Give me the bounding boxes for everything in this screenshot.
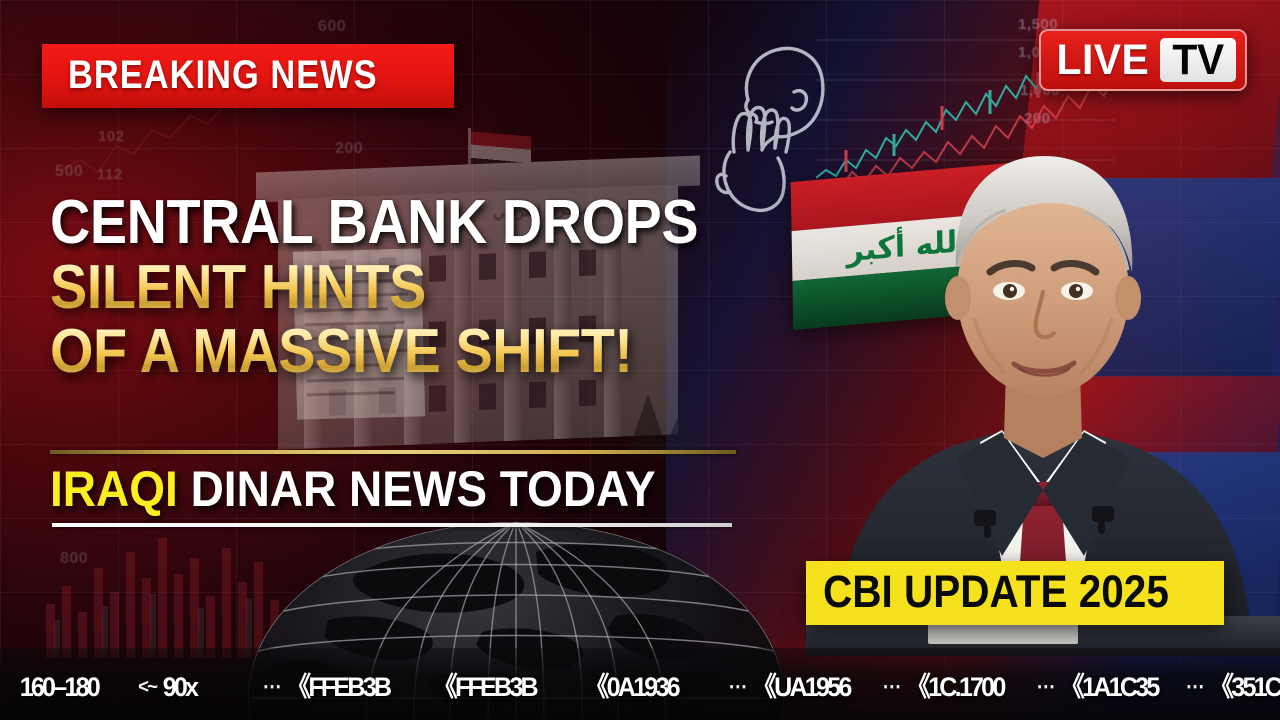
ticker-text-8: 《351C. [1209, 672, 1280, 702]
breaking-news-label: BREAKING NEWS [68, 55, 378, 95]
ticker-item-5: ⋯《UA1956 [729, 672, 850, 702]
ticker-item-6: ⋯《1C.1700 [883, 672, 1004, 702]
headline-line-2: SILENT HINTS [50, 256, 734, 320]
ticker-text-2: 《FFEB3B [286, 672, 389, 702]
ticker-item-3: 《FFEB3B [426, 672, 536, 702]
ticker-item-8: ⋯《351C. [1186, 672, 1280, 702]
subtitle-block: IRAQI DINAR NEWS TODAY [50, 460, 656, 518]
live-tv-badge: LIVE TV [1039, 29, 1247, 91]
ticker-text-4: 《0A1936 [584, 672, 678, 702]
ticker-arrow-8: ⋯ [1186, 672, 1203, 702]
tv-box: TV [1160, 38, 1236, 82]
headline-line-1: CENTRAL BANK DROPS [50, 190, 734, 256]
cbi-update-banner: CBI UPDATE 2025 [806, 561, 1224, 625]
ticker-item-1: <~90x [138, 672, 196, 702]
live-label: LIVE [1053, 38, 1157, 82]
ticker-text-0: 160–180 [20, 672, 98, 702]
ticker-item-4: 《0A1936 [578, 672, 678, 702]
breaking-news-badge: BREAKING NEWS [42, 44, 454, 108]
tv-label: TV [1172, 38, 1223, 82]
ticker-text-7: 《1A1C35 [1060, 672, 1158, 702]
headline-block: CENTRAL BANK DROPS SILENT HINTS OF A MAS… [50, 190, 810, 384]
subtitle-rest: DINAR NEWS TODAY [178, 461, 656, 517]
ticker-item-2: ⋯《FFEB3B [263, 672, 389, 702]
ticker-text-3: 《FFEB3B [433, 672, 536, 702]
cbi-update-label: CBI UPDATE 2025 [823, 568, 1169, 616]
subtitle-rule-top [50, 450, 736, 454]
ticker-arrow-7: ⋯ [1037, 672, 1054, 702]
bottom-ticker: 160–180 <~90x ⋯《FFEB3B 《FFEB3B 《0A1936 ⋯… [0, 654, 1280, 720]
ticker-item-7: ⋯《1A1C35 [1037, 672, 1158, 702]
subtitle-rule-bottom [52, 523, 732, 527]
ticker-arrow-2: ⋯ [263, 672, 280, 702]
ticker-arrow-1: <~ [138, 672, 156, 702]
ticker-text-1: 90x [163, 672, 197, 702]
ticker-arrow-5: ⋯ [729, 672, 746, 702]
ticker-arrow-6: ⋯ [883, 672, 900, 702]
ticker-text-6: 《1C.1700 [906, 672, 1004, 702]
ticker-item-0: 160–180 [13, 672, 98, 702]
thumbnail-canvas: 800 600 500 200 102 112 1,500 1,000 1,00… [0, 0, 1280, 720]
ticker-text-5: 《UA1956 [752, 672, 850, 702]
subtitle-highlight: IRAQI [50, 461, 178, 517]
headline-line-3: OF A MASSIVE SHIFT! [50, 320, 734, 384]
